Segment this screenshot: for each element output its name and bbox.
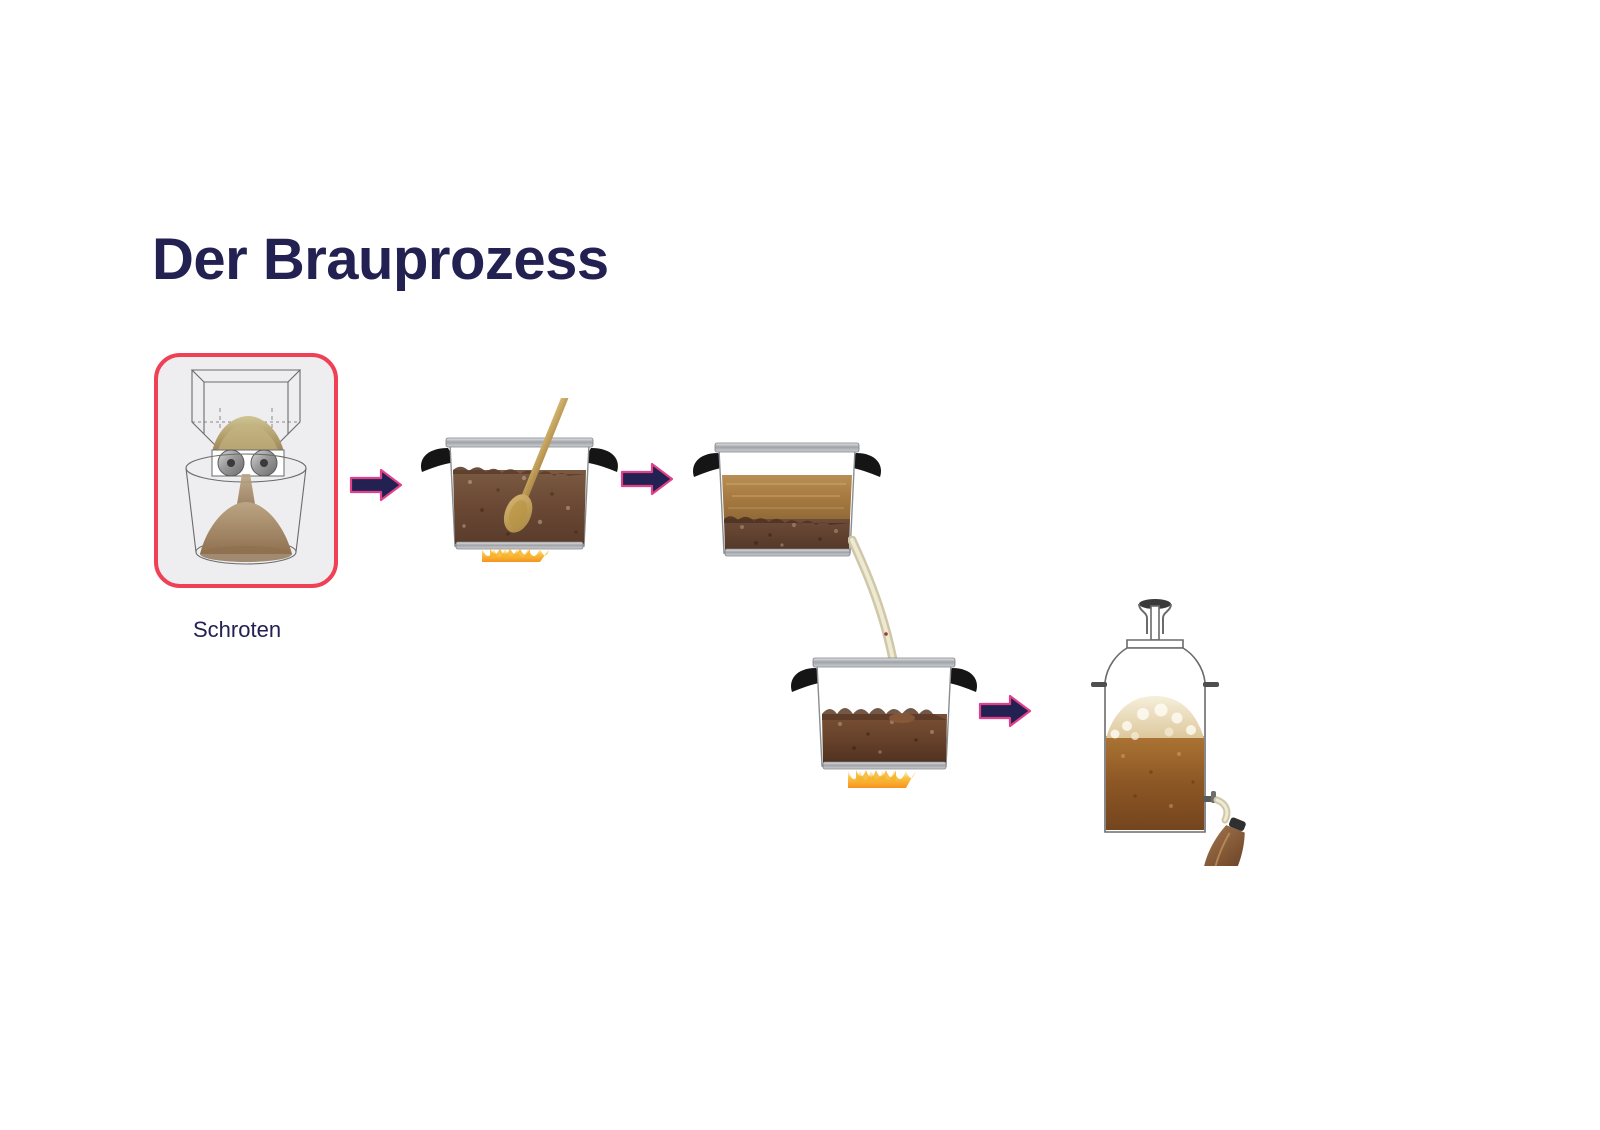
step-maischen-illustration[interactable] (412, 398, 627, 578)
step-label-schroten: Schroten (193, 617, 281, 643)
step-gaerung-illustration[interactable] (1075, 596, 1285, 871)
fermenter-with-airlock-icon (1075, 596, 1285, 866)
step-wuerzekochen-illustration[interactable] (786, 640, 986, 805)
airlock-icon (1139, 599, 1171, 640)
arrow-right-icon-3 (978, 694, 1032, 728)
boil-kettle-icon (786, 640, 986, 800)
arrow-right-icon-2 (620, 462, 674, 496)
arrow-right-icon-1 (349, 468, 403, 502)
page-title: Der Brauprozess (152, 226, 609, 293)
slide-canvas: Der Brauprozess (0, 0, 1600, 1130)
flame-icon (482, 548, 550, 562)
mash-pot-with-spoon-icon (412, 398, 627, 573)
grain-mill-icon (160, 360, 332, 582)
step-schroten-illustration[interactable] (160, 360, 332, 582)
flame-icon (848, 770, 916, 788)
